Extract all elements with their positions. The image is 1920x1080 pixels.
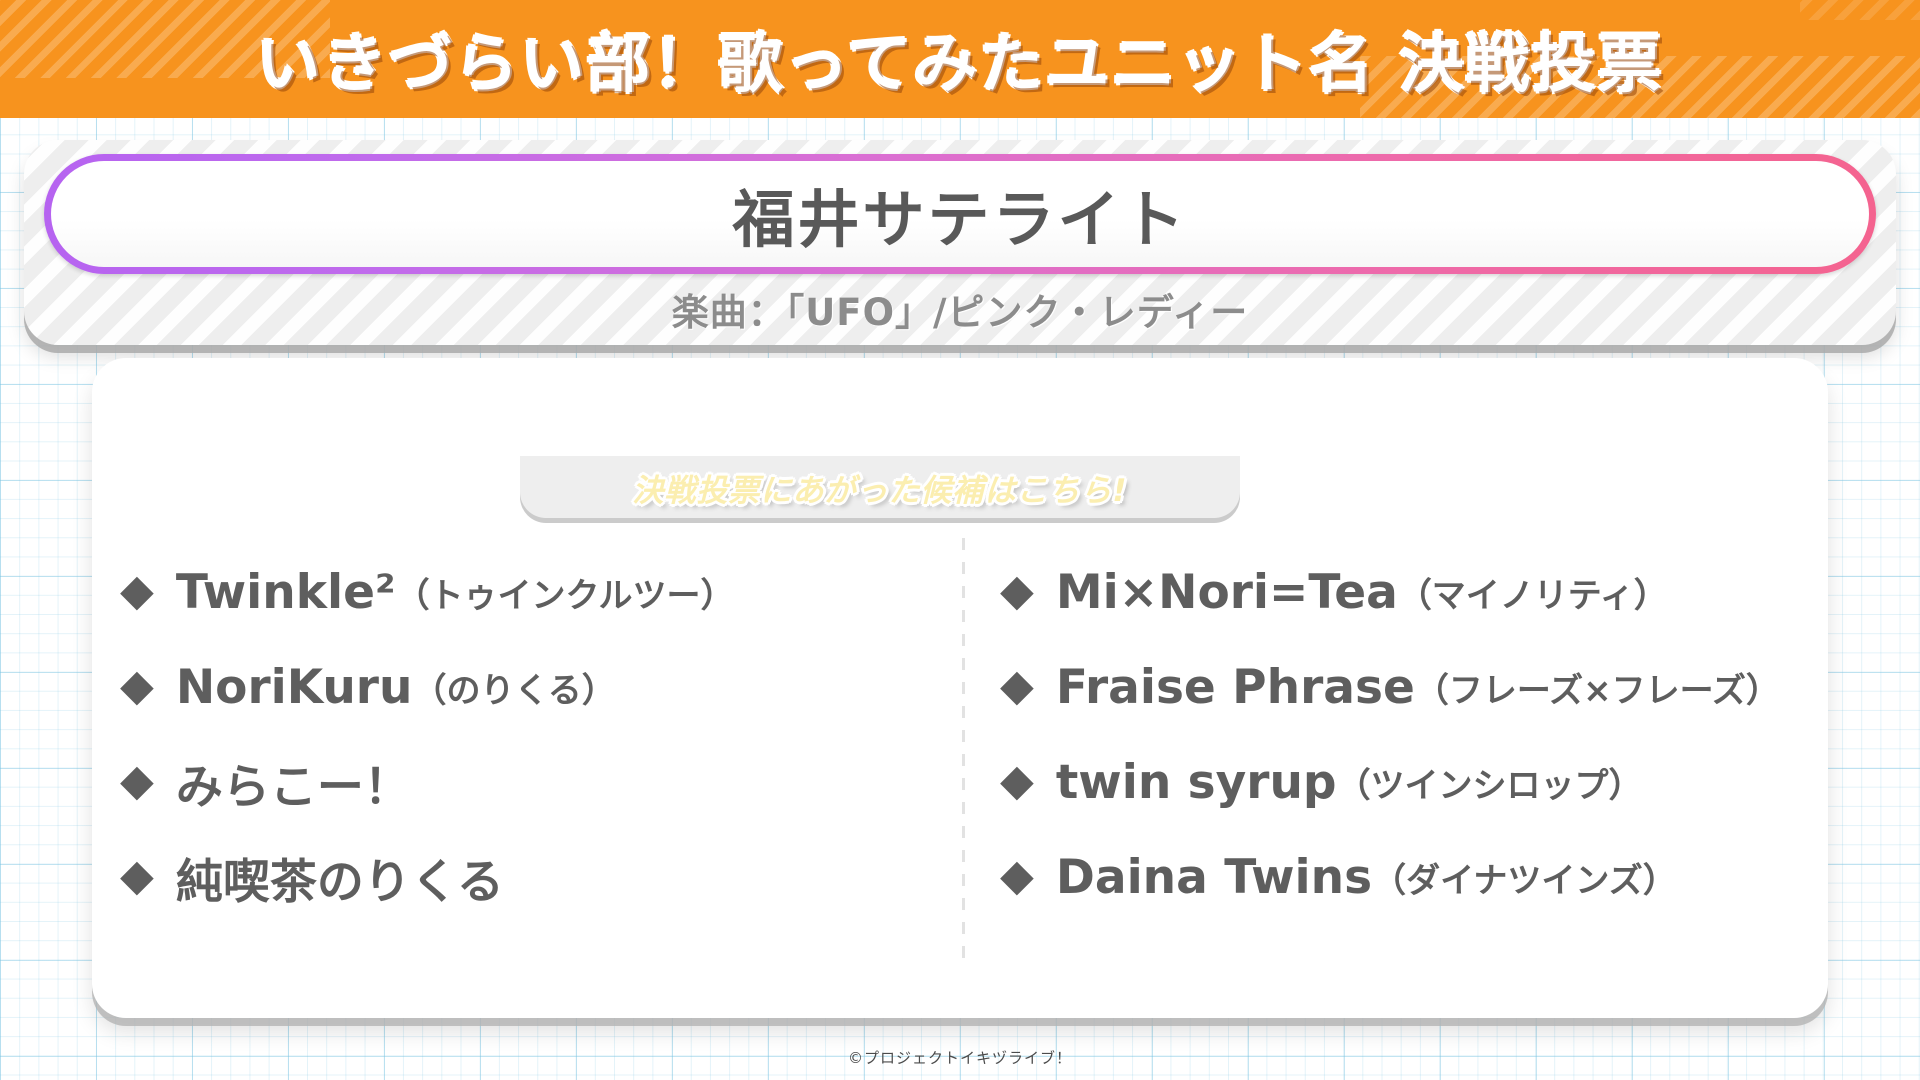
candidate-reading: （フレーズ×フレーズ） bbox=[1415, 663, 1780, 712]
diamond-bullet-icon: ◆ bbox=[120, 759, 154, 803]
candidate-item[interactable]: ◆NoriKuru（のりくる） bbox=[120, 640, 940, 735]
diamond-bullet-icon: ◆ bbox=[120, 854, 154, 898]
candidate-reading: （のりくる） bbox=[412, 663, 615, 712]
candidate-item[interactable]: ◆純喫茶のりくる bbox=[120, 830, 940, 925]
candidate-reading: （ダイナツインズ） bbox=[1372, 853, 1677, 902]
candidate-item[interactable]: ◆Daina Twins（ダイナツインズ） bbox=[1000, 830, 1820, 925]
diamond-bullet-icon: ◆ bbox=[1000, 854, 1034, 898]
candidate-name: Fraise Phrase bbox=[1056, 660, 1415, 715]
unit-name-plate-inner: 福井サテライト bbox=[51, 161, 1869, 267]
diamond-bullet-icon: ◆ bbox=[1000, 759, 1034, 803]
diamond-bullet-icon: ◆ bbox=[1000, 569, 1034, 613]
candidate-item[interactable]: ◆Twinkle²（トゥインクルツー） bbox=[120, 545, 940, 640]
song-credit-label: 楽曲：「UFO」/ピンク・レディー bbox=[24, 282, 1896, 336]
candidate-name: Mi×Nori=Tea bbox=[1056, 565, 1398, 620]
candidate-reading: （トゥインクルツー） bbox=[396, 568, 735, 617]
column-divider bbox=[962, 538, 965, 958]
candidate-column-right: ◆Mi×Nori=Tea（マイノリティ）◆Fraise Phrase（フレーズ×… bbox=[1000, 545, 1820, 925]
candidate-name: Daina Twins bbox=[1056, 850, 1372, 905]
slide-root: いきづらい部！歌ってみたユニット名 決戦投票 福井サテライト 楽曲：「UFO」/… bbox=[0, 0, 1920, 1080]
candidate-reading: （マイノリティ） bbox=[1398, 568, 1668, 617]
candidate-item[interactable]: ◆Fraise Phrase（フレーズ×フレーズ） bbox=[1000, 640, 1820, 735]
candidates-banner: 決戦投票にあがった候補はこちら! bbox=[520, 456, 1240, 518]
candidate-column-left: ◆Twinkle²（トゥインクルツー）◆NoriKuru（のりくる）◆みらこー！… bbox=[120, 545, 940, 925]
copyright-notice: ©プロジェクトイキヅライブ！ bbox=[0, 1047, 1920, 1068]
page-title: いきづらい部！歌ってみたユニット名 決戦投票 bbox=[0, 0, 1920, 118]
unit-name-label: 福井サテライト bbox=[732, 169, 1187, 259]
candidates-banner-label: 決戦投票にあがった候補はこちら! bbox=[632, 465, 1127, 510]
candidate-reading: （ツインシロップ） bbox=[1337, 758, 1643, 807]
candidate-name: NoriKuru bbox=[176, 660, 413, 715]
diamond-bullet-icon: ◆ bbox=[1000, 664, 1034, 708]
candidate-name: Twinkle² bbox=[176, 565, 396, 620]
unit-header-card: 福井サテライト 楽曲：「UFO」/ピンク・レディー bbox=[24, 140, 1896, 345]
candidate-item[interactable]: ◆twin syrup（ツインシロップ） bbox=[1000, 735, 1820, 830]
diamond-bullet-icon: ◆ bbox=[120, 569, 154, 613]
candidate-item[interactable]: ◆Mi×Nori=Tea（マイノリティ） bbox=[1000, 545, 1820, 640]
diamond-bullet-icon: ◆ bbox=[120, 664, 154, 708]
candidate-name: twin syrup bbox=[1056, 755, 1337, 810]
candidate-item[interactable]: ◆みらこー！ bbox=[120, 735, 940, 830]
unit-name-plate: 福井サテライト bbox=[44, 154, 1876, 274]
candidate-name: みらこー！ bbox=[176, 748, 411, 817]
candidate-name: 純喫茶のりくる bbox=[176, 843, 504, 912]
